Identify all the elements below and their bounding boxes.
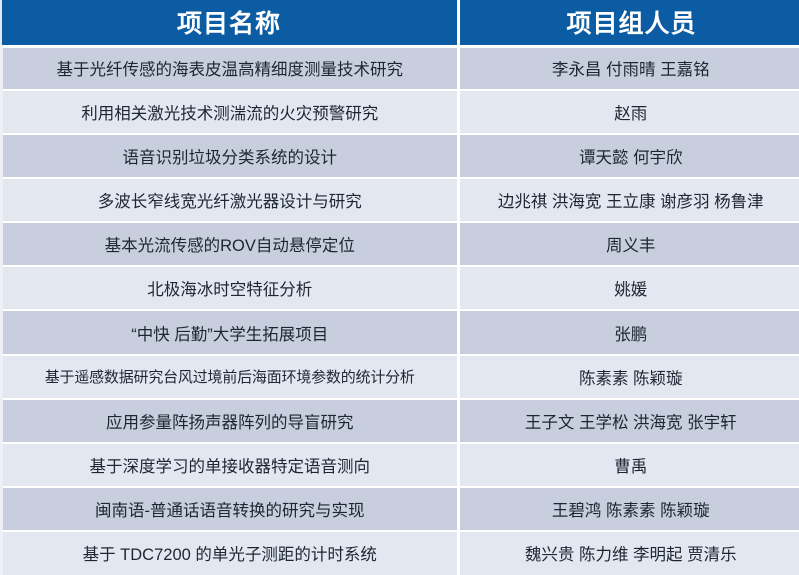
table-body: 基于光纤传感的海表皮温高精细度测量技术研究 李永昌 付雨晴 王嘉铭 利用相关激光…	[2, 46, 799, 575]
cell-project-name: 基本光流传感的ROV自动悬停定位	[2, 222, 459, 266]
table-row: “中快 后勤”大学生拓展项目 张鹏	[2, 310, 799, 354]
cell-project-members: 姚媛	[458, 266, 799, 310]
cell-project-name: 基于光纤传感的海表皮温高精细度测量技术研究	[2, 46, 459, 90]
project-table: 项目名称 项目组人员 基于光纤传感的海表皮温高精细度测量技术研究 李永昌 付雨晴…	[0, 0, 799, 575]
table-row: 应用参量阵扬声器阵列的导盲研究 王子文 王学松 洪海宽 张宇轩	[2, 399, 799, 443]
table-row: 基于深度学习的单接收器特定语音测向 曹禹	[2, 443, 799, 487]
cell-project-name: 利用相关激光技术测湍流的火灾预警研究	[2, 90, 459, 134]
column-header-project-name: 项目名称	[2, 0, 459, 46]
cell-project-name: 基于 TDC7200 的单光子测距的计时系统	[2, 531, 459, 575]
cell-project-members: 李永昌 付雨晴 王嘉铭	[458, 46, 799, 90]
table-header: 项目名称 项目组人员	[2, 0, 799, 46]
table-row: 利用相关激光技术测湍流的火灾预警研究 赵雨	[2, 90, 799, 134]
cell-project-name: 基于遥感数据研究台风过境前后海面环境参数的统计分析	[2, 355, 459, 399]
cell-project-name: 北极海冰时空特征分析	[2, 266, 459, 310]
cell-project-members: 张鹏	[458, 310, 799, 354]
table-row: 基本光流传感的ROV自动悬停定位 周义丰	[2, 222, 799, 266]
table-row: 闽南语-普通话语音转换的研究与实现 王碧鸿 陈素素 陈颖璇	[2, 487, 799, 531]
cell-project-members: 谭天懿 何宇欣	[458, 134, 799, 178]
column-header-project-members: 项目组人员	[458, 0, 799, 46]
cell-project-members: 周义丰	[458, 222, 799, 266]
cell-project-name: 多波长窄线宽光纤激光器设计与研究	[2, 178, 459, 222]
cell-project-name: 应用参量阵扬声器阵列的导盲研究	[2, 399, 459, 443]
cell-project-name: 语音识别垃圾分类系统的设计	[2, 134, 459, 178]
cell-project-name: “中快 后勤”大学生拓展项目	[2, 310, 459, 354]
cell-project-members: 边兆祺 洪海宽 王立康 谢彦羽 杨鲁津	[458, 178, 799, 222]
table-row: 基于遥感数据研究台风过境前后海面环境参数的统计分析 陈素素 陈颖璇	[2, 355, 799, 399]
cell-project-members: 王子文 王学松 洪海宽 张宇轩	[458, 399, 799, 443]
cell-project-members: 曹禹	[458, 443, 799, 487]
cell-project-members: 陈素素 陈颖璇	[458, 355, 799, 399]
cell-project-name: 基于深度学习的单接收器特定语音测向	[2, 443, 459, 487]
table-row: 北极海冰时空特征分析 姚媛	[2, 266, 799, 310]
table-header-row: 项目名称 项目组人员	[2, 0, 799, 46]
cell-project-members: 魏兴贵 陈力维 李明起 贾清乐	[458, 531, 799, 575]
cell-project-members: 赵雨	[458, 90, 799, 134]
cell-project-members: 王碧鸿 陈素素 陈颖璇	[458, 487, 799, 531]
table-row: 基于 TDC7200 的单光子测距的计时系统 魏兴贵 陈力维 李明起 贾清乐	[2, 531, 799, 575]
cell-project-name: 闽南语-普通话语音转换的研究与实现	[2, 487, 459, 531]
table-row: 语音识别垃圾分类系统的设计 谭天懿 何宇欣	[2, 134, 799, 178]
table-row: 基于光纤传感的海表皮温高精细度测量技术研究 李永昌 付雨晴 王嘉铭	[2, 46, 799, 90]
table-row: 多波长窄线宽光纤激光器设计与研究 边兆祺 洪海宽 王立康 谢彦羽 杨鲁津	[2, 178, 799, 222]
